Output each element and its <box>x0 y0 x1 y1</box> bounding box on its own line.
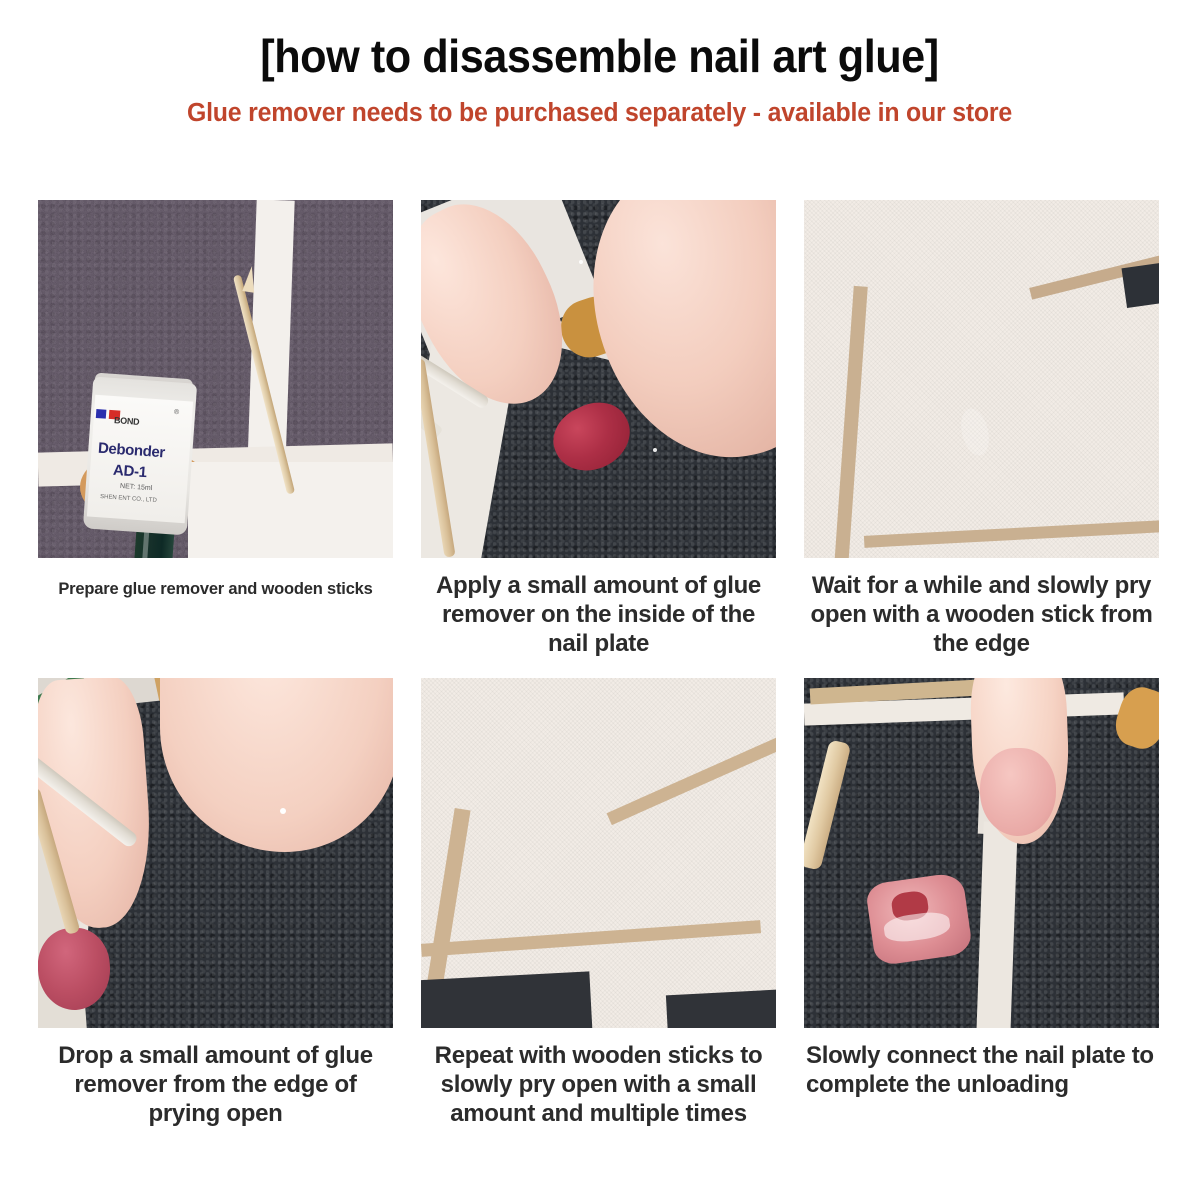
step-photo-5 <box>421 678 776 1028</box>
step-photo-4 <box>38 678 393 1028</box>
step-card-3: Wait for a while and slowly pry open wit… <box>804 200 1159 658</box>
step-photo-3 <box>804 200 1159 558</box>
step-caption-1: Prepare glue remover and wooden sticks <box>38 580 393 600</box>
step-caption-2: Apply a small amount of glue remover on … <box>421 572 776 658</box>
dark-surface-right <box>666 989 776 1028</box>
page-title: [how to disassemble nail art glue] <box>36 32 1163 80</box>
step-card-2: Apply a small amount of glue remover on … <box>421 200 776 658</box>
registered-mark-icon: ® <box>174 409 180 416</box>
logo-square-blue <box>96 409 107 419</box>
steps-grid: BOND ® Debonder AD-1 NET: 15ml SHEN ENT … <box>38 200 1159 1129</box>
step-card-1: BOND ® Debonder AD-1 NET: 15ml SHEN ENT … <box>38 200 393 658</box>
step-photo-6 <box>804 678 1159 1028</box>
page-header: [how to disassemble nail art glue] Glue … <box>0 0 1199 128</box>
step-card-4: Drop a small amount of glue remover from… <box>38 678 393 1128</box>
sparkle-highlight <box>653 448 657 452</box>
label-brand-text: BOND <box>114 415 140 427</box>
step-card-6: Slowly connect the nail plate to complet… <box>804 678 1159 1128</box>
step-photo-2 <box>421 200 776 558</box>
sparkle-highlight <box>579 260 583 264</box>
page-subtitle: Glue remover needs to be purchased separ… <box>15 99 1184 128</box>
label-product-code: AD-1 <box>112 462 147 481</box>
dark-surface-corner <box>1122 260 1159 308</box>
step-caption-5: Repeat with wooden sticks to slowly pry … <box>421 1042 776 1128</box>
step-caption-3: Wait for a while and slowly pry open wit… <box>804 572 1159 658</box>
step-card-5: Repeat with wooden sticks to slowly pry … <box>421 678 776 1128</box>
step-caption-6: Slowly connect the nail plate to complet… <box>804 1042 1159 1100</box>
white-tile-vertical <box>976 822 1018 1029</box>
dark-surface-left <box>421 972 592 1029</box>
step-caption-4: Drop a small amount of glue remover from… <box>38 1042 393 1128</box>
towel-texture <box>421 678 776 1028</box>
natural-nail <box>980 748 1056 836</box>
step-photo-1: BOND ® Debonder AD-1 NET: 15ml SHEN ENT … <box>38 200 393 558</box>
